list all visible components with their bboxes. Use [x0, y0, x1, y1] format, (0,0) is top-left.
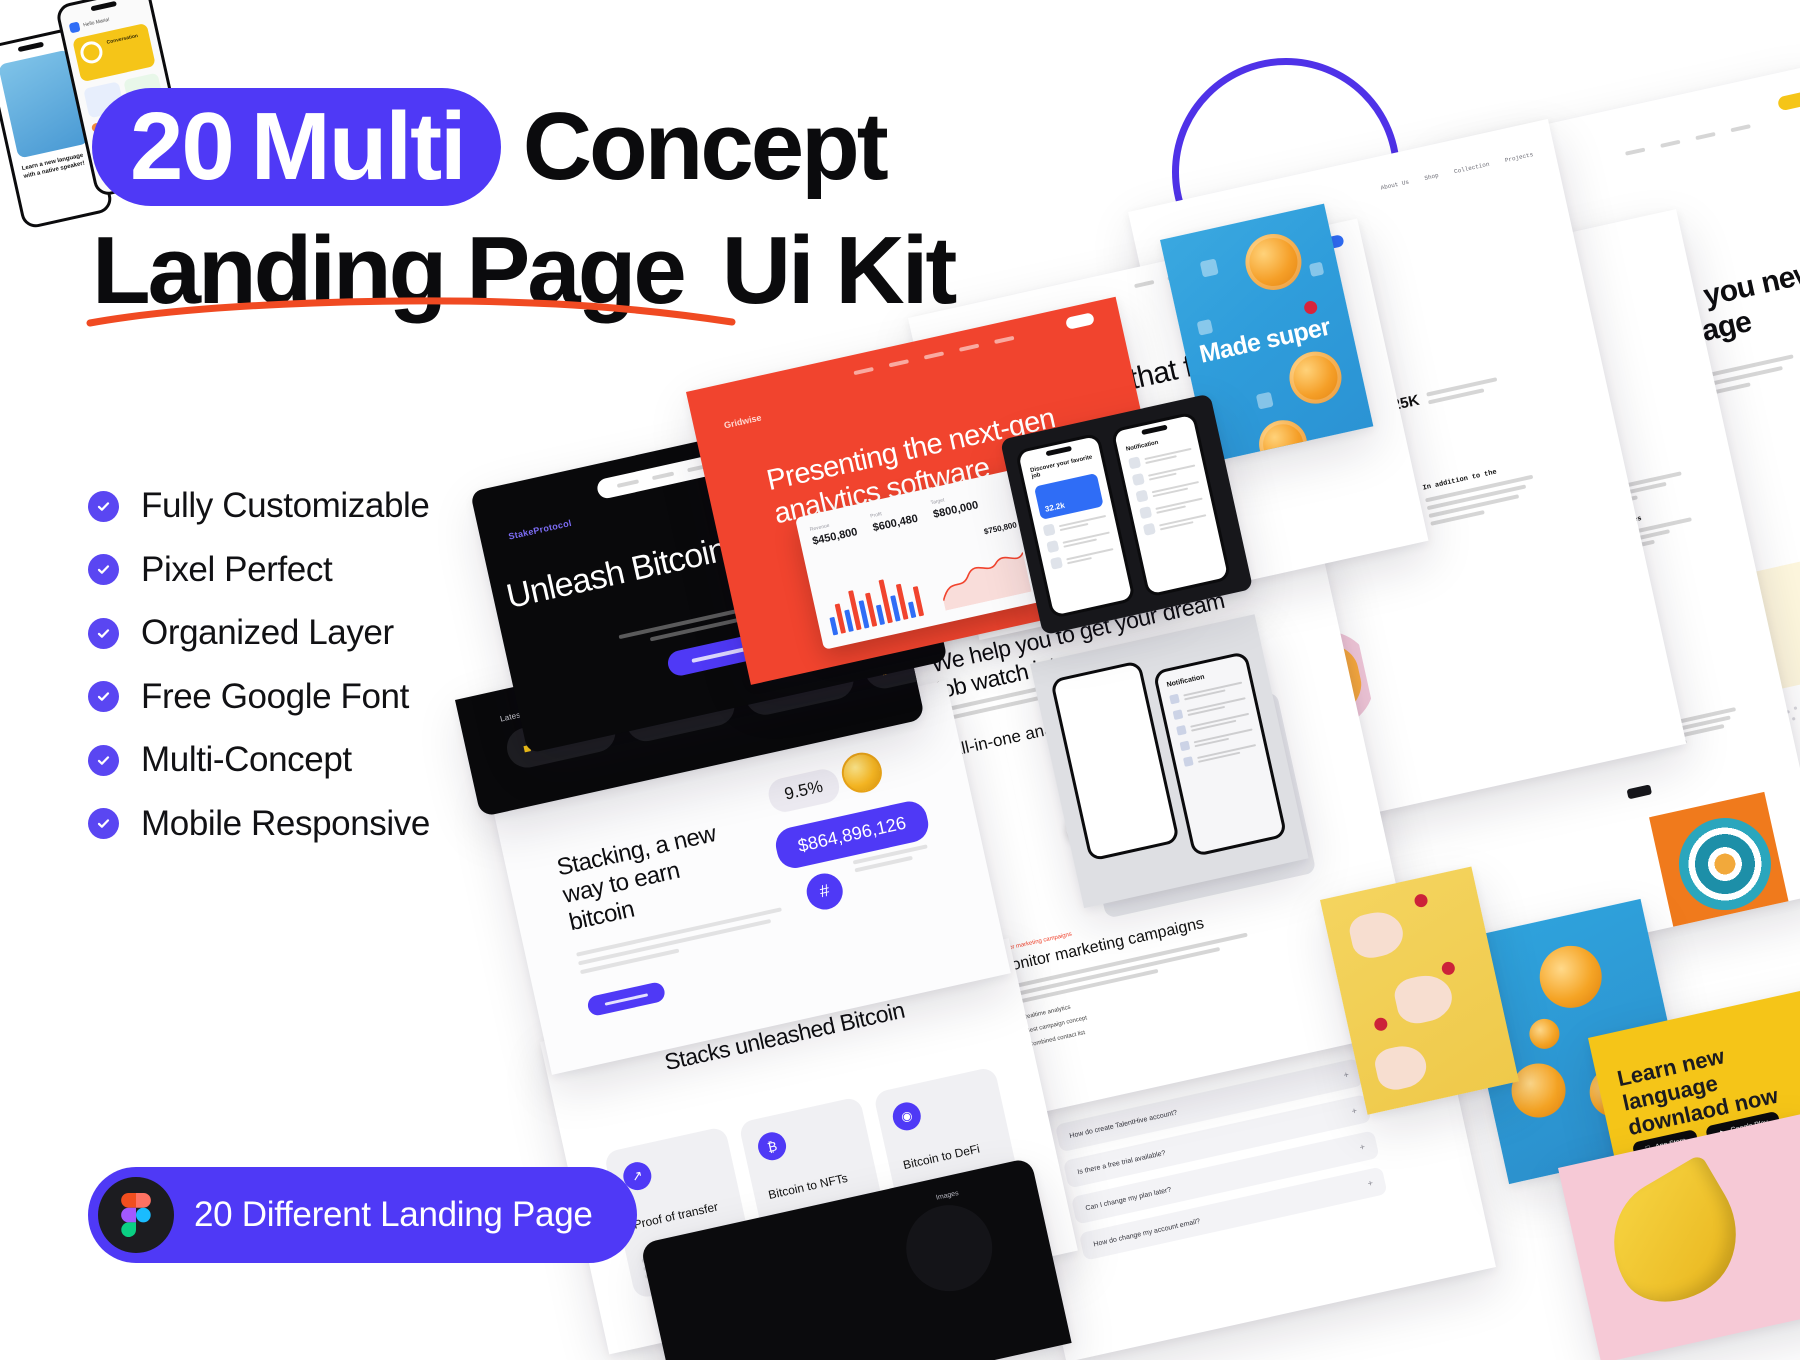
dashboard-line-chart: [934, 539, 1032, 611]
headline-pill: 20 Multi: [92, 88, 501, 206]
footer-ring: [898, 1197, 1001, 1300]
verbalizeit-register-button[interactable]: [1777, 90, 1800, 111]
headline-number: 20: [130, 99, 233, 195]
footer-label: Images: [935, 1190, 959, 1202]
figma-badge[interactable]: 20 Different Landing Page: [88, 1167, 637, 1263]
hash-icon: #: [803, 870, 846, 913]
feature-label: Organized Layer: [141, 614, 394, 653]
feature-item: Pixel Perfect: [88, 551, 430, 590]
left-content-panel: 20 Multi Concept Landing Page Ui Kit Ful…: [0, 0, 720, 1360]
page-title: 20 Multi Concept Landing Page Ui Kit: [92, 86, 1092, 330]
check-icon: [88, 808, 119, 839]
check-icon: [88, 554, 119, 585]
headline-uikit: Ui Kit: [722, 223, 955, 319]
headline-multi: Multi: [251, 99, 465, 195]
feature-item: Mobile Responsive: [88, 805, 430, 844]
feature-item: Multi-Concept: [88, 741, 430, 780]
talenthive-marketing-block: Monitor marketing campaigns Monitor mark…: [994, 895, 1261, 1052]
wallart-stat: 25K: [1390, 374, 1499, 414]
wallart-nav[interactable]: About UsShop CollectionProjects: [1380, 151, 1534, 192]
check-icon: [88, 745, 119, 776]
feature-item: Fully Customizable: [88, 487, 430, 526]
bitcoin-coin-icon: [838, 749, 886, 797]
check-icon: [88, 491, 119, 522]
stat-item: Target$800,000: [930, 490, 979, 520]
feature-item: Organized Layer: [88, 614, 430, 653]
stat-item: Revenue$450,800: [809, 517, 858, 547]
bitcoin-icon: ₿: [755, 1130, 788, 1163]
stat-item: Profit$600,480: [870, 504, 919, 534]
feature-label: Fully Customizable: [141, 487, 429, 526]
feature-item: Free Google Font: [88, 678, 430, 717]
feature-label: Mobile Responsive: [141, 805, 430, 844]
plus-icon: +: [1367, 1178, 1374, 1189]
feature-list: Fully Customizable Pixel Perfect Organiz…: [88, 487, 430, 843]
dashboard-secondary-value: $750,800: [983, 520, 1018, 536]
dashboard-bar-chart: [822, 561, 941, 636]
analytics-nav[interactable]: [853, 336, 1014, 375]
check-icon: [88, 681, 119, 712]
apy-badge: 9.5%: [766, 766, 842, 815]
plus-icon: +: [1343, 1069, 1350, 1080]
plus-icon: +: [1351, 1105, 1358, 1116]
verbalizeit-nav[interactable]: [1625, 124, 1751, 156]
feature-label: Pixel Perfect: [141, 551, 332, 590]
feature-label: Multi-Concept: [141, 741, 352, 780]
analytics-brand: Gridwise: [723, 412, 762, 430]
figma-badge-label: 20 Different Landing Page: [194, 1195, 593, 1235]
feature-label: Free Google Font: [141, 678, 409, 717]
underline-swoosh: [86, 296, 736, 330]
plus-icon: +: [1359, 1142, 1366, 1153]
wallart-read-more-button[interactable]: [1627, 784, 1653, 799]
wallart-section-addition: In addition to the: [1422, 461, 1538, 526]
defi-icon: ◉: [890, 1100, 923, 1133]
figma-logo-icon: [98, 1177, 174, 1253]
check-icon: [88, 618, 119, 649]
headline-concept: Concept: [523, 99, 886, 195]
